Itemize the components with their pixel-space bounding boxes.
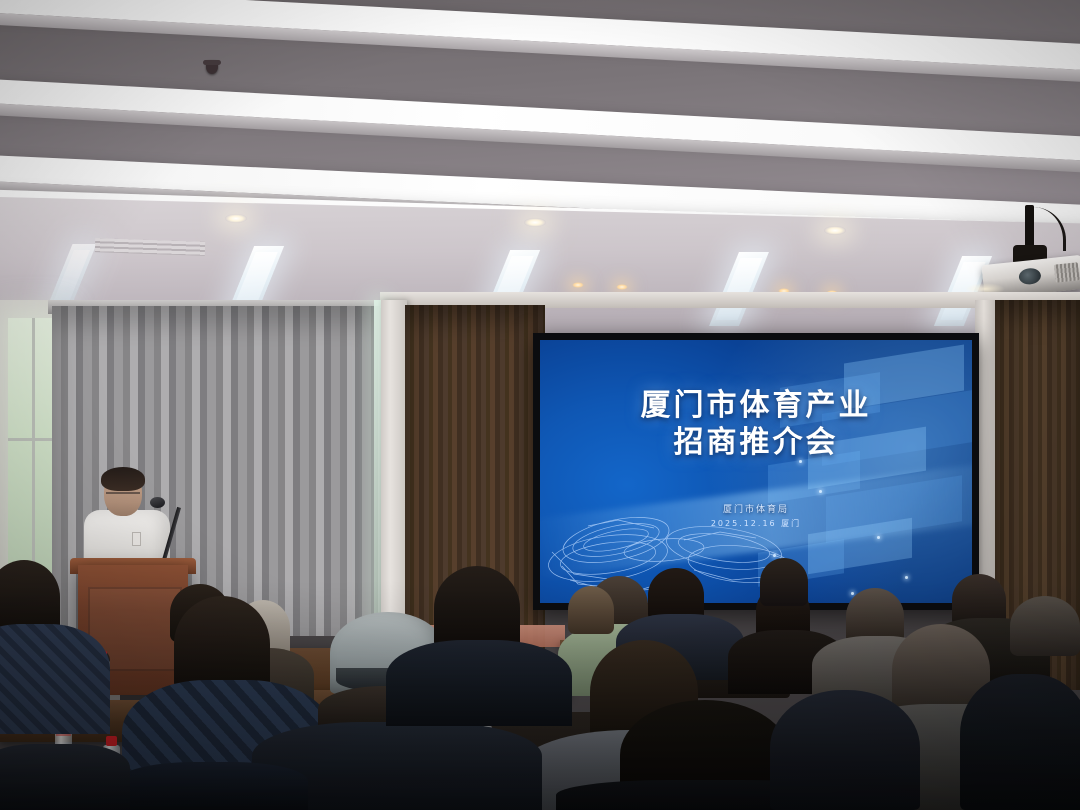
presenter-badge bbox=[132, 532, 141, 546]
screen-sparkle bbox=[851, 592, 854, 595]
audience-plaid-jacket bbox=[0, 624, 110, 734]
conference-hall-photo: 厦门市体育产业 招商推介会 厦门市体育局 2025.12.16 厦门 bbox=[0, 0, 1080, 810]
audience-jacket bbox=[770, 690, 920, 810]
audience-shoulders bbox=[386, 640, 572, 726]
ceiling-downlight bbox=[616, 284, 628, 290]
presentation-screen[interactable]: 厦门市体育产业 招商推介会 厦门市体育局 2025.12.16 厦门 bbox=[540, 340, 972, 603]
screen-date-location: 2025.12.16 厦门 bbox=[540, 518, 972, 529]
presenter-hair bbox=[101, 467, 145, 491]
audience-head bbox=[434, 566, 520, 650]
ceiling-downlight bbox=[572, 282, 584, 288]
projector-vent bbox=[1054, 262, 1080, 282]
audience-head bbox=[568, 586, 614, 634]
screen-sparkle bbox=[877, 536, 880, 539]
sprinkler-icon bbox=[206, 60, 218, 74]
projector-lens-icon bbox=[1018, 267, 1042, 285]
screen-sparkle bbox=[819, 490, 822, 493]
screen-sparkle bbox=[905, 576, 908, 579]
ceiling-downlight bbox=[225, 214, 247, 223]
ceiling-projector bbox=[985, 205, 1080, 300]
glasses-icon bbox=[106, 492, 140, 501]
ceiling-downlight bbox=[824, 226, 846, 235]
window-mullion bbox=[8, 438, 56, 441]
audience-head bbox=[1010, 596, 1080, 656]
screen-title-line2: 招商推介会 bbox=[540, 425, 972, 462]
microphone-icon bbox=[150, 497, 165, 508]
audience-jacket bbox=[960, 674, 1080, 810]
screen-organizer: 厦门市体育局 bbox=[540, 502, 972, 515]
led-display-bezel[interactable]: 厦门市体育产业 招商推介会 厦门市体育局 2025.12.16 厦门 bbox=[533, 333, 979, 610]
ceiling-downlight bbox=[524, 218, 546, 227]
screen-title: 厦门市体育产业 招商推介会 bbox=[540, 388, 972, 461]
audience-jacket bbox=[118, 762, 308, 810]
screen-title-line1: 厦门市体育产业 bbox=[641, 388, 872, 423]
wall-pillar bbox=[381, 300, 407, 660]
audience-head bbox=[760, 558, 808, 606]
audience-jacket bbox=[0, 744, 130, 810]
audience-head bbox=[174, 596, 270, 692]
